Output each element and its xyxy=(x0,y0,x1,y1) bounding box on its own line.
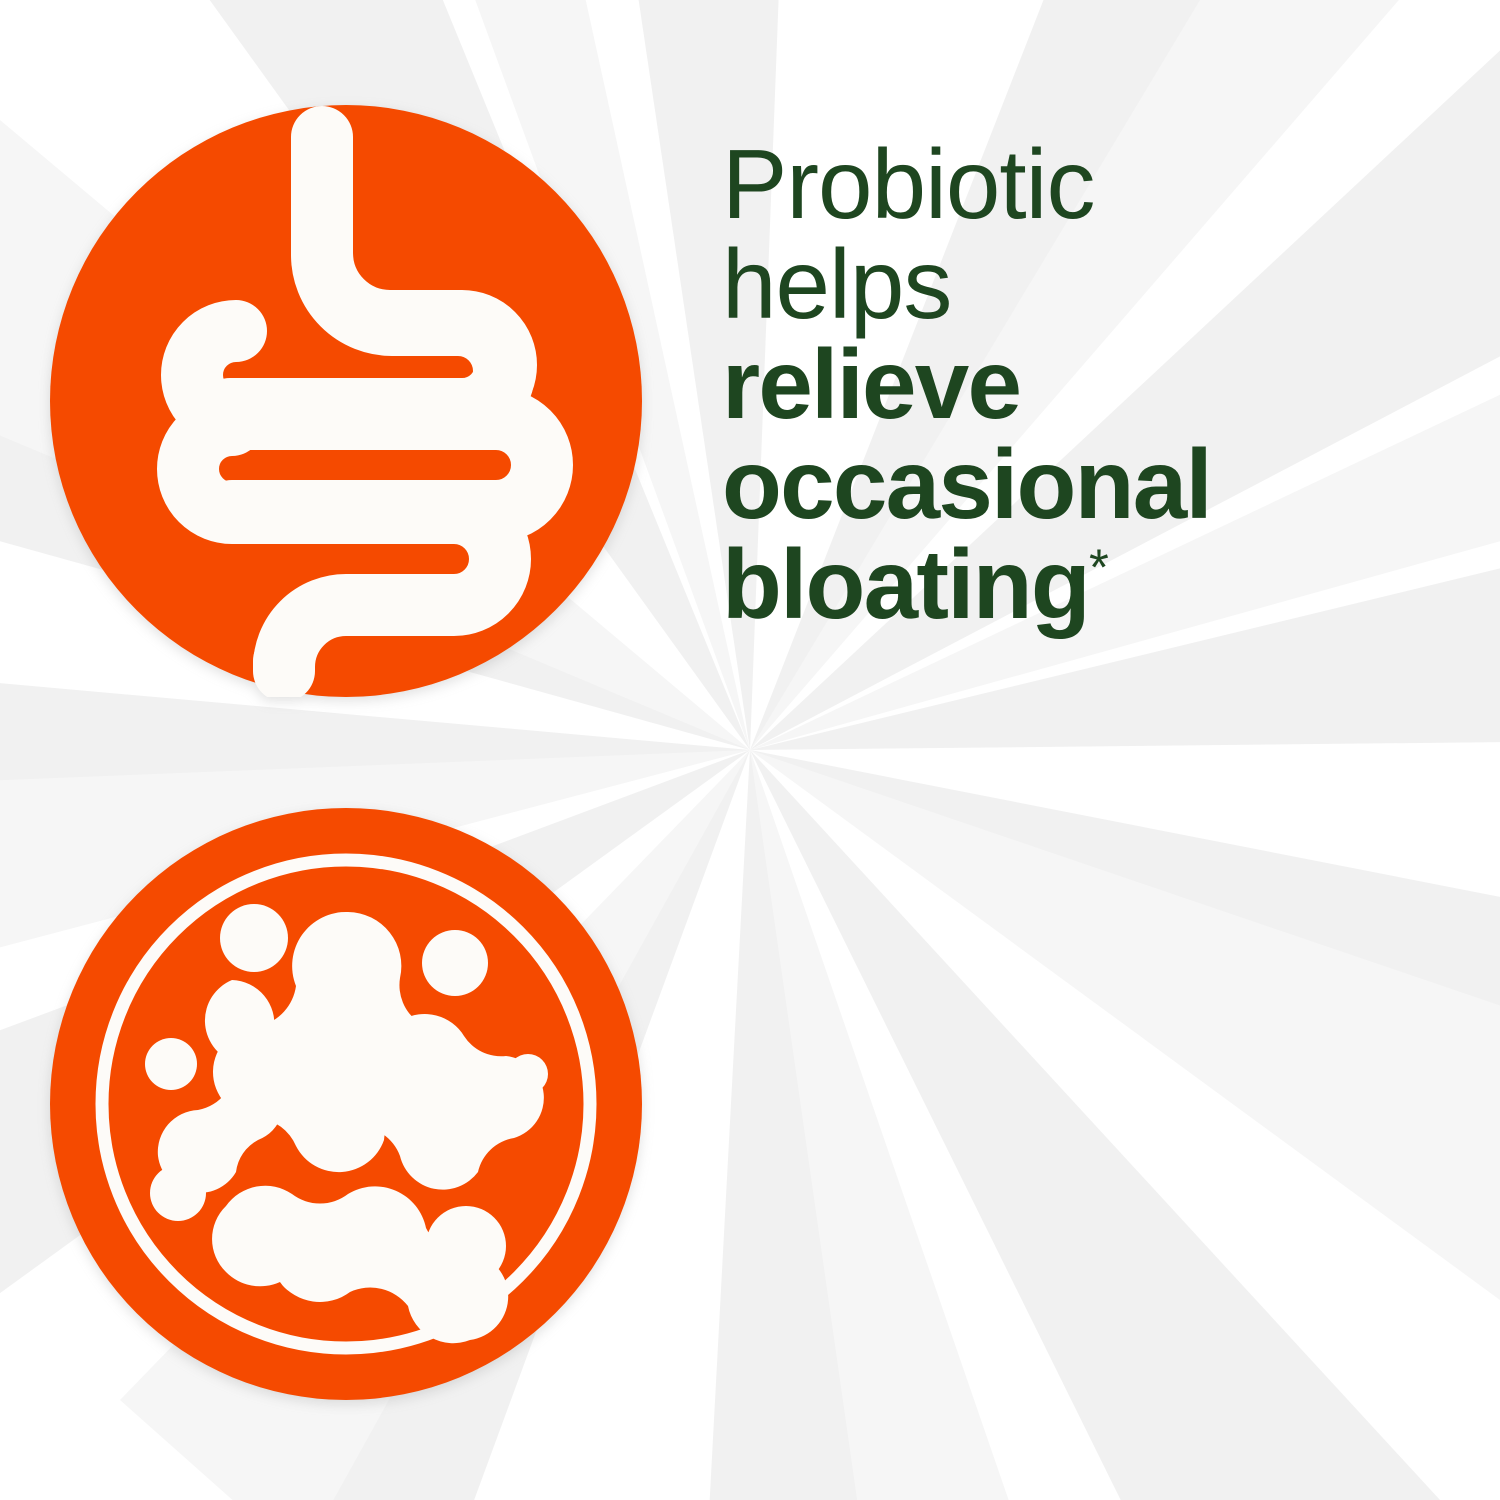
headline-text: Probiotic xyxy=(722,129,1094,239)
panel-prebiotic: Prebiotic helps nourish the good bacteri… xyxy=(0,750,1500,1500)
headline-text: helps xyxy=(722,229,951,339)
headline-line-2: helps xyxy=(722,235,1482,335)
probiotic-headline: Probiotic helps relieve occasional bloat… xyxy=(722,135,1482,635)
headline-line-4: occasional xyxy=(722,435,1482,535)
footnote-asterisk: * xyxy=(1089,538,1109,595)
headline-text-emphasis: relieve xyxy=(722,329,1020,439)
infographic-root: Probiotic helps relieve occasional bloat… xyxy=(0,0,1500,1500)
bacteria-culture-icon xyxy=(50,808,642,1400)
headline-line-3: relieve xyxy=(722,335,1482,435)
headline-text-emphasis: occasional xyxy=(722,429,1211,539)
headline-text-emphasis: bloating xyxy=(722,529,1089,639)
headline-line-1: Probiotic xyxy=(722,135,1482,235)
headline-line-5: bloating* xyxy=(722,535,1482,635)
panel-probiotic: Probiotic helps relieve occasional bloat… xyxy=(0,0,1500,750)
intestine-icon xyxy=(50,105,642,697)
